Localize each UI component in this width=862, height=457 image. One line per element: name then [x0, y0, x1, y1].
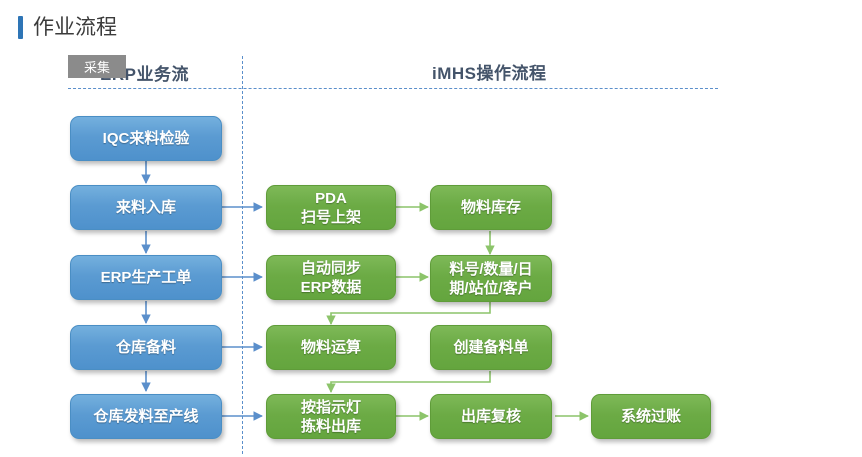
node-issue[interactable]: 仓库发料至产线: [70, 394, 222, 439]
page-title: 作业流程: [33, 16, 117, 39]
node-recheck[interactable]: 出库复核: [430, 394, 552, 439]
divider-horizontal: [68, 88, 718, 89]
green-connectors: [331, 207, 588, 416]
node-label: 料号/数量/日 期/站位/客户: [449, 260, 532, 298]
node-label-line-2: 扫号上架: [301, 209, 361, 226]
node-calc[interactable]: 物料运算: [266, 325, 396, 370]
node-inbound[interactable]: 来料入库: [70, 185, 222, 230]
node-label: PDA 扫号上架: [301, 189, 361, 227]
node-sync[interactable]: 自动同步 ERP数据: [266, 255, 396, 300]
page-title-group: 作业流程: [18, 16, 117, 39]
node-label-line-1: 按指示灯: [301, 399, 361, 416]
node-label: IQC来料检验: [103, 129, 190, 148]
divider-vertical: [242, 56, 243, 454]
node-label-line-1: 自动同步: [301, 260, 361, 277]
column-header-imhs: iMHS操作流程: [432, 59, 547, 84]
node-stock[interactable]: 物料库存: [430, 185, 552, 230]
node-label: 按指示灯 拣料出库: [301, 398, 361, 436]
title-accent-bar: [18, 16, 23, 39]
node-label: 来料入库: [116, 198, 176, 217]
node-label-line-1: 料号/数量/日: [449, 261, 532, 278]
node-label: 自动同步 ERP数据: [301, 259, 362, 297]
flowchart-canvas: 作业流程 ERP业务流 iMHS操作流程 采集: [0, 0, 862, 457]
node-label: 创建备料单: [453, 338, 528, 357]
node-label-line-2: ERP数据: [301, 279, 362, 296]
node-label: 仓库发料至产线: [93, 407, 198, 426]
node-label-line-2: 期/站位/客户: [449, 280, 532, 297]
node-workorder[interactable]: ERP生产工单: [70, 255, 222, 300]
capture-badge: 采集: [68, 55, 126, 78]
node-label-line-1: PDA: [315, 190, 347, 207]
node-pda[interactable]: PDA 扫号上架: [266, 185, 396, 230]
node-label: 仓库备料: [116, 338, 176, 357]
node-label: ERP生产工单: [101, 268, 192, 287]
node-label: 物料运算: [301, 338, 361, 357]
node-attrs[interactable]: 料号/数量/日 期/站位/客户: [430, 255, 552, 302]
node-label-line-2: 拣料出库: [301, 418, 361, 435]
node-label: 系统过账: [621, 407, 681, 426]
node-posting[interactable]: 系统过账: [591, 394, 711, 439]
node-picking[interactable]: 按指示灯 拣料出库: [266, 394, 396, 439]
node-iqc[interactable]: IQC来料检验: [70, 116, 222, 161]
node-label: 物料库存: [461, 198, 521, 217]
node-label: 出库复核: [461, 407, 521, 426]
node-picklist[interactable]: 创建备料单: [430, 325, 552, 370]
node-prepare[interactable]: 仓库备料: [70, 325, 222, 370]
